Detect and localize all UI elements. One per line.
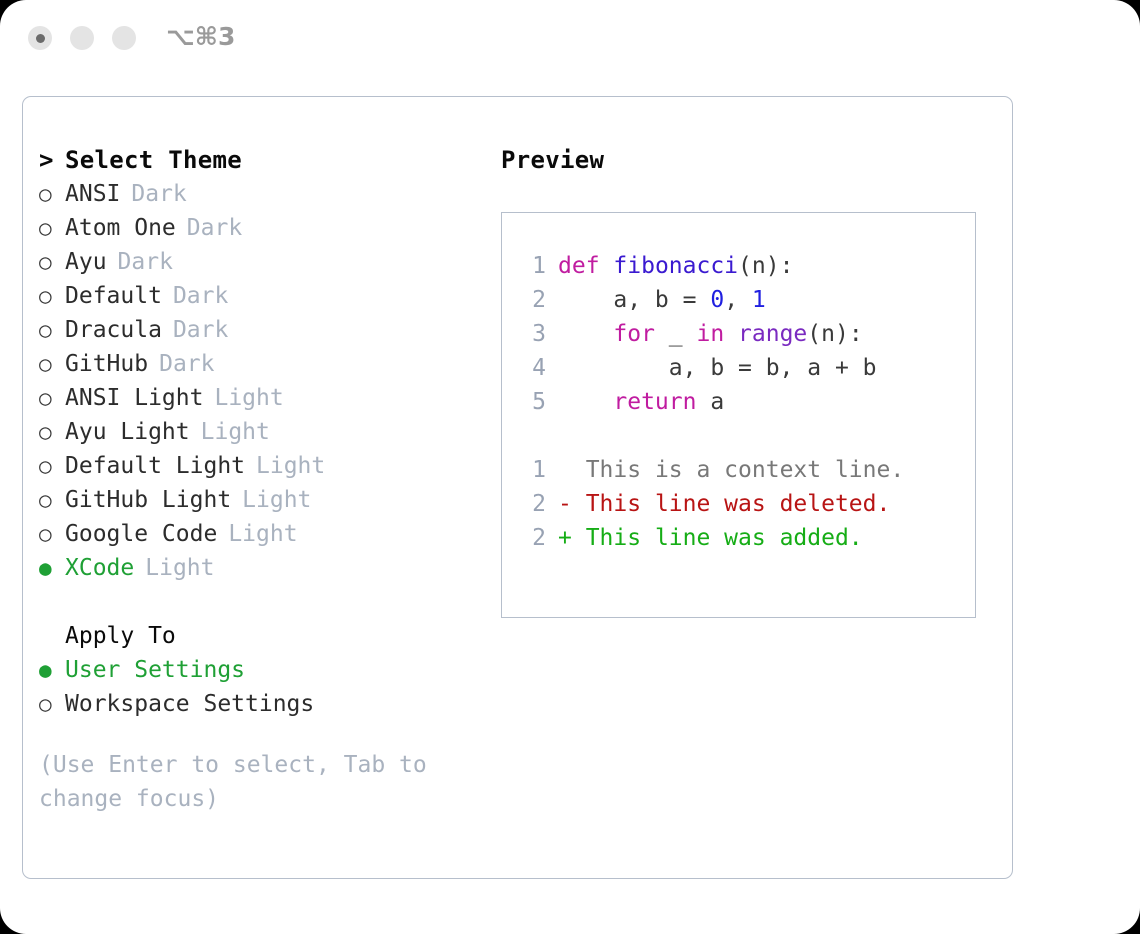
theme-variant-tag: Light — [217, 517, 297, 551]
theme-variant-tag: Dark — [107, 245, 173, 279]
theme-variant-tag: Light — [203, 381, 283, 415]
diff-line: 1 This is a context line. — [516, 453, 904, 487]
code-token: (n): — [738, 253, 793, 279]
select-theme-heading: >Select Theme — [39, 143, 469, 177]
diff-line: 2- This line was deleted. — [516, 487, 904, 521]
code-text: a, b = b, a + b — [558, 351, 877, 385]
line-number: 1 — [516, 249, 558, 283]
radio-empty-icon[interactable]: ○ — [39, 687, 65, 721]
diff-text: This is a context line. — [586, 453, 905, 487]
theme-list-item[interactable]: ○GitHub LightLight — [39, 483, 469, 517]
radio-empty-icon[interactable]: ○ — [39, 449, 65, 483]
preview-title: Preview — [501, 143, 996, 177]
theme-variant-tag: Light — [190, 415, 270, 449]
theme-variant-tag: Dark — [176, 211, 242, 245]
section-spacer — [39, 585, 469, 619]
code-line: 5 return a — [516, 385, 904, 419]
theme-variant-tag: Dark — [162, 313, 228, 347]
theme-variant-tag: Light — [245, 449, 325, 483]
titlebar: ⌥⌘3 — [0, 0, 1140, 78]
caret-icon: > — [39, 143, 65, 177]
radio-empty-icon[interactable]: ○ — [39, 279, 65, 313]
code-token: range — [738, 321, 807, 347]
theme-name: Ayu Light — [65, 415, 190, 449]
apply-to-list: ●User Settings○Workspace Settings — [39, 653, 469, 721]
radio-empty-icon[interactable]: ○ — [39, 483, 65, 517]
code-token — [600, 253, 614, 279]
preview-box: 1def fibonacci(n):2 a, b = 0, 13 for _ i… — [501, 212, 976, 618]
diff-marker: - — [558, 487, 586, 521]
apply-to-item[interactable]: ●User Settings — [39, 653, 469, 687]
code-blank-line — [516, 419, 904, 453]
theme-variant-tag: Light — [134, 551, 214, 585]
line-number: 4 — [516, 351, 558, 385]
code-token: def — [558, 253, 600, 279]
code-token: 1 — [752, 287, 766, 313]
code-token: 0 — [710, 287, 724, 313]
theme-list-item[interactable]: ○DraculaDark — [39, 313, 469, 347]
record-dot-inner — [36, 34, 45, 43]
theme-list-item[interactable]: ○AyuDark — [39, 245, 469, 279]
theme-variant-tag: Dark — [148, 347, 214, 381]
theme-name: GitHub Light — [65, 483, 231, 517]
main-panel: >Select Theme ○ANSIDark○Atom OneDark○Ayu… — [22, 96, 1013, 879]
code-token: , — [724, 287, 752, 313]
theme-list-item[interactable]: ○Google CodeLight — [39, 517, 469, 551]
radio-empty-icon[interactable]: ○ — [39, 415, 65, 449]
theme-variant-tag: Light — [231, 483, 311, 517]
theme-name: Google Code — [65, 517, 217, 551]
line-number: 2 — [516, 487, 558, 521]
radio-empty-icon[interactable]: ○ — [39, 177, 65, 211]
theme-list: ○ANSIDark○Atom OneDark○AyuDark○DefaultDa… — [39, 177, 469, 585]
code-line: 3 for _ in range(n): — [516, 317, 904, 351]
diff-line: 2+ This line was added. — [516, 521, 904, 555]
theme-variant-tag: Dark — [120, 177, 186, 211]
code-token: for — [613, 321, 655, 347]
theme-name: Atom One — [65, 211, 176, 245]
code-token: a — [696, 389, 724, 415]
apply-to-heading: Apply To — [39, 619, 469, 653]
radio-empty-icon[interactable]: ○ — [39, 245, 65, 279]
code-line: 2 a, b = 0, 1 — [516, 283, 904, 317]
diff-marker — [558, 453, 586, 487]
code-token — [724, 321, 738, 347]
code-token: fibonacci — [613, 253, 738, 279]
code-token: _ — [655, 321, 697, 347]
theme-list-item[interactable]: ○ANSIDark — [39, 177, 469, 211]
keyboard-shortcut-label: ⌥⌘3 — [166, 22, 235, 51]
apply-to-label: User Settings — [65, 653, 245, 687]
diff-marker: + — [558, 521, 586, 555]
preview-column: Preview 1def fibonacci(n):2 a, b = 0, 13… — [501, 143, 996, 618]
line-number: 1 — [516, 453, 558, 487]
radio-empty-icon[interactable]: ○ — [39, 517, 65, 551]
code-token: (n): — [807, 321, 862, 347]
code-text: return a — [558, 385, 724, 419]
window-dot-2-icon[interactable] — [70, 26, 94, 50]
theme-name: Dracula — [65, 313, 162, 347]
diff-text: This line was added. — [586, 521, 863, 555]
code-text: def fibonacci(n): — [558, 249, 793, 283]
keyboard-hint: (Use Enter to select, Tab to change focu… — [39, 748, 439, 816]
code-token — [558, 389, 613, 415]
code-preview: 1def fibonacci(n):2 a, b = 0, 13 for _ i… — [516, 249, 904, 555]
record-dot-icon[interactable] — [28, 26, 52, 50]
radio-empty-icon[interactable]: ○ — [39, 313, 65, 347]
radio-selected-icon[interactable]: ● — [39, 653, 65, 687]
line-number: 3 — [516, 317, 558, 351]
radio-empty-icon[interactable]: ○ — [39, 347, 65, 381]
theme-selector-column: >Select Theme ○ANSIDark○Atom OneDark○Ayu… — [39, 143, 469, 816]
line-number: 2 — [516, 521, 558, 555]
theme-list-item[interactable]: ○ANSI LightLight — [39, 381, 469, 415]
code-token — [558, 321, 613, 347]
theme-list-item[interactable]: ○Ayu LightLight — [39, 415, 469, 449]
code-token: a, b = b, a + b — [558, 355, 877, 381]
code-line: 4 a, b = b, a + b — [516, 351, 904, 385]
theme-name: XCode — [65, 551, 134, 585]
theme-name: Default — [65, 279, 162, 313]
theme-variant-tag: Dark — [162, 279, 228, 313]
code-line: 1def fibonacci(n): — [516, 249, 904, 283]
window-controls — [28, 26, 136, 50]
diff-text: This line was deleted. — [586, 487, 891, 521]
theme-name: GitHub — [65, 347, 148, 381]
line-number: 2 — [516, 283, 558, 317]
apply-to-label: Workspace Settings — [65, 687, 314, 721]
theme-name: Default Light — [65, 449, 245, 483]
code-token: a, b = — [558, 287, 710, 313]
app-window: ⌥⌘3 >Select Theme ○ANSIDark○Atom OneDark… — [0, 0, 1140, 934]
theme-list-item[interactable]: ○Default LightLight — [39, 449, 469, 483]
radio-selected-icon[interactable]: ● — [39, 551, 65, 585]
select-theme-heading-label: Select Theme — [65, 143, 242, 177]
code-token: return — [613, 389, 696, 415]
theme-name: Ayu — [65, 245, 107, 279]
code-token: in — [696, 321, 724, 347]
line-number: 5 — [516, 385, 558, 419]
code-text: for _ in range(n): — [558, 317, 863, 351]
theme-list-item[interactable]: ○Atom OneDark — [39, 211, 469, 245]
apply-to-item[interactable]: ○Workspace Settings — [39, 687, 469, 721]
theme-list-item[interactable]: ○GitHubDark — [39, 347, 469, 381]
theme-name: ANSI — [65, 177, 120, 211]
theme-list-item[interactable]: ●XCodeLight — [39, 551, 469, 585]
code-text: a, b = 0, 1 — [558, 283, 766, 317]
theme-list-item[interactable]: ○DefaultDark — [39, 279, 469, 313]
radio-empty-icon[interactable]: ○ — [39, 211, 65, 245]
theme-name: ANSI Light — [65, 381, 203, 415]
window-dot-3-icon[interactable] — [112, 26, 136, 50]
radio-empty-icon[interactable]: ○ — [39, 381, 65, 415]
